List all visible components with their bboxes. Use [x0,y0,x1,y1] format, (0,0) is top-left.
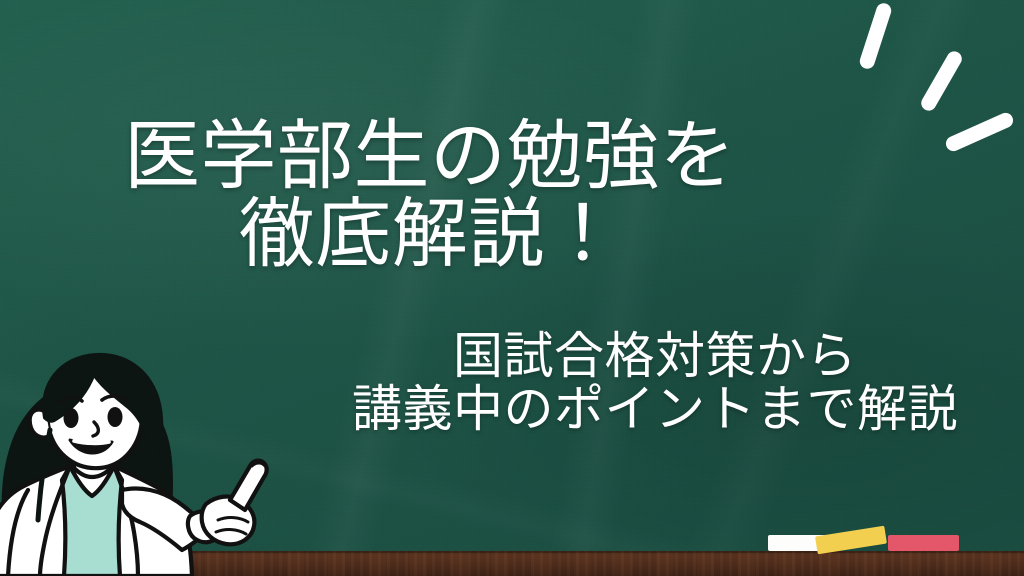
subheadline-text: 国試合格対策から 講義中のポイントまで解説 [300,330,1010,435]
eye-left [64,408,79,428]
headline-title: 医学部生の勉強を 徹底解説！ [60,118,800,273]
eye-right [108,407,123,427]
teacher-illustration-svg [0,340,294,576]
teacher-illustration [0,340,294,576]
chalkboard-slide: 医学部生の勉強を 徹底解説！ 国試合格対策から 講義中のポイントまで解説 [0,0,1024,576]
held-chalk-icon [230,461,267,510]
